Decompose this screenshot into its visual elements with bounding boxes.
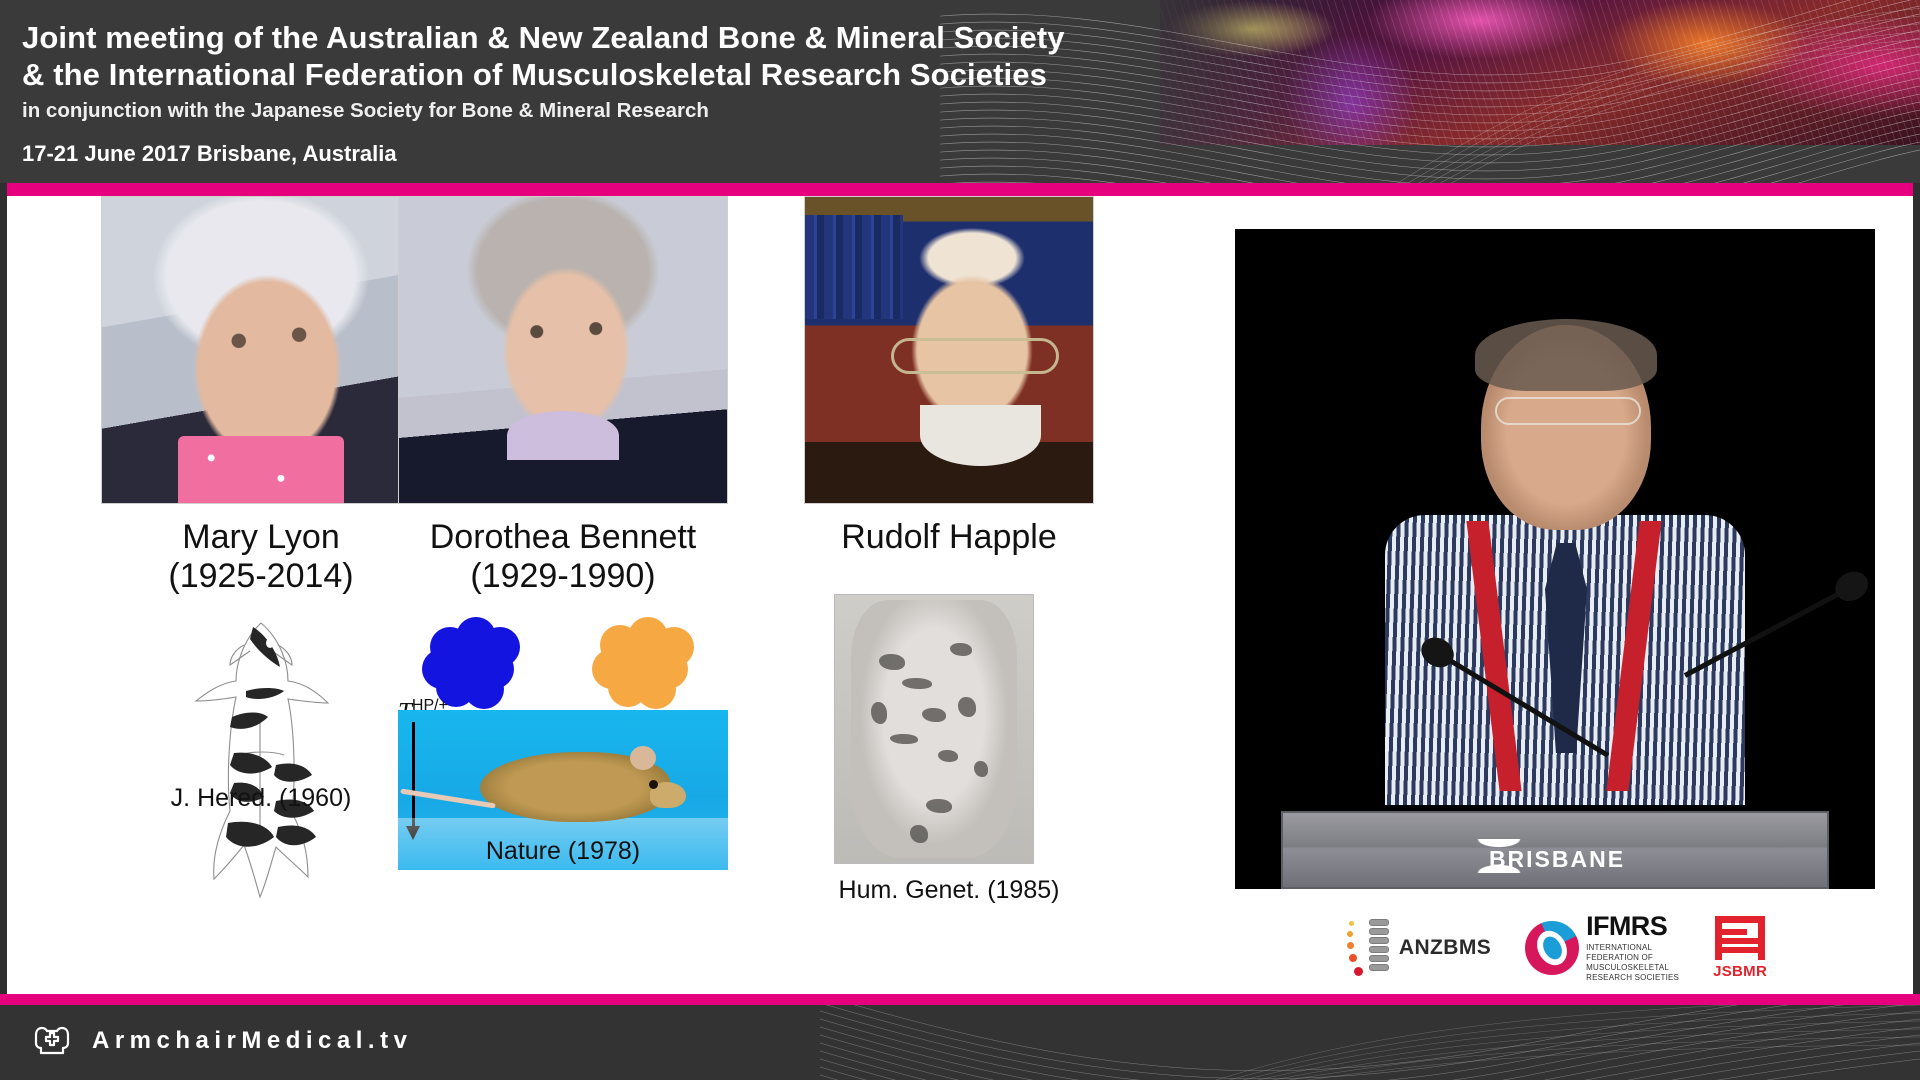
eyeglasses (1495, 397, 1641, 425)
footer-brand-text: ArmchairMedical.tv (92, 1027, 412, 1055)
logo-anzbms: ANZBMS (1347, 917, 1491, 979)
anzbms-wordmark: ANZBMS (1399, 936, 1491, 960)
presentation-slide: Mary Lyon (1925-2014) (7, 196, 1913, 994)
logo-ifmrs: IFMRS INTERNATIONAL FEDERATION OF MUSCUL… (1525, 913, 1679, 983)
top-accent-rule (0, 183, 1920, 196)
citation-hum-genet: Hum. Genet. (1985) (774, 876, 1124, 905)
right-edge-border (1913, 183, 1920, 1005)
logo-jsbmr: JSBMR (1713, 916, 1767, 980)
spine-icon (1347, 917, 1393, 979)
portrait-mary-lyon (101, 196, 421, 504)
header-title-line2: & the International Federation of Muscul… (22, 59, 1162, 92)
jsbmr-wordmark: JSBMR (1713, 963, 1767, 980)
speaker-figure (1385, 325, 1745, 795)
speaker-video-panel[interactable]: BRISBANE (1235, 229, 1875, 889)
footer-swoosh-graphic (820, 1005, 1920, 1080)
portrait-rudolf-happle (804, 196, 1094, 504)
sponsor-logo-row: ANZBMS IFMRS INTERNATIONAL FEDERATION OF… (1317, 912, 1797, 984)
header-date-location: 17-21 June 2017 Brisbane, Australia (22, 141, 1162, 167)
bottom-accent-rule (0, 994, 1920, 1005)
mosaic-mouse-drawing (156, 605, 366, 905)
slide-viewer: Joint meeting of the Australian & New Ze… (0, 0, 1920, 1080)
header-subtitle: in conjunction with the Japanese Society… (22, 99, 1162, 123)
ifmrs-subtitle: INTERNATIONAL FEDERATION OF MUSCULOSKELE… (1586, 943, 1679, 983)
footer-bar: ArmchairMedical.tv (0, 1005, 1920, 1080)
column-mary-lyon: Mary Lyon (1925-2014) (101, 196, 421, 905)
swimming-mouse-photo: Nature (1978) (398, 710, 728, 870)
name-mary-lyon: Mary Lyon (1925-2014) (101, 518, 421, 597)
header-text-block: Joint meeting of the Australian & New Ze… (22, 22, 1162, 167)
left-edge-border (0, 183, 7, 1005)
conference-header: Joint meeting of the Australian & New Ze… (0, 0, 1920, 192)
name-rudolf-happle: Rudolf Happle (804, 518, 1094, 557)
citation-j-hered: J. Hered. (1960) (101, 784, 421, 813)
footer-brand[interactable]: ArmchairMedical.tv (30, 1019, 412, 1063)
header-title-line1: Joint meeting of the Australian & New Ze… (22, 22, 1162, 55)
armchair-medical-cross-icon (30, 1019, 74, 1063)
wildtype-cell-cluster (592, 617, 694, 709)
mutant-cell-cluster (422, 617, 520, 709)
ifmrs-wordmark: IFMRS (1586, 913, 1679, 940)
jsbmr-kanji-icon (1715, 916, 1765, 960)
portrait-dorothea-bennett (398, 196, 728, 504)
mouse-body (480, 752, 670, 822)
lectern: BRISBANE (1281, 811, 1829, 889)
citation-nature: Nature (1978) (398, 837, 728, 866)
speaker-hair (1475, 319, 1657, 391)
name-dorothea-bennett: Dorothea Bennett (1929-1990) (398, 518, 728, 597)
ifmrs-swirl-icon (1525, 921, 1579, 975)
column-dorothea-bennett: Dorothea Bennett (1929-1990) (398, 196, 728, 801)
lectern-label: BRISBANE (1283, 846, 1831, 873)
clinical-mosaic-skin-photo (834, 594, 1034, 864)
column-rudolf-happle: Rudolf Happle Hum. Genet. (1985) (804, 196, 1094, 557)
